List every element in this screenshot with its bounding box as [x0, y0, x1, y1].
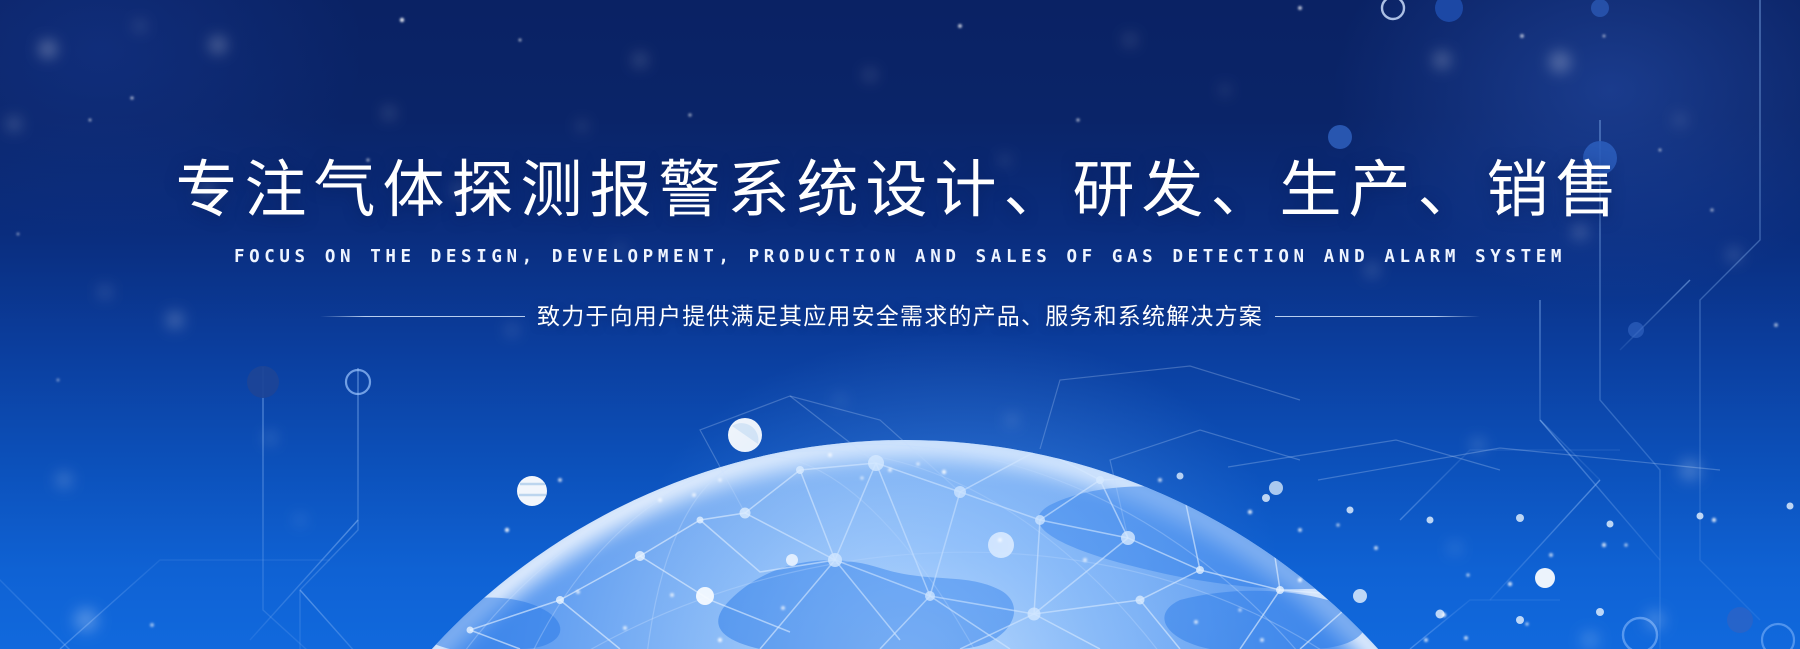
tagline-text: 致力于向用户提供满足其应用安全需求的产品、服务和系统解决方案	[525, 305, 1275, 328]
tagline-row: 致力于向用户提供满足其应用安全需求的产品、服务和系统解决方案	[0, 305, 1800, 328]
particles-soft	[7, 21, 1741, 649]
page-subtitle-english: FOCUS ON THE DESIGN, DEVELOPMENT, PRODUC…	[0, 249, 1800, 267]
page-title: 专注气体探测报警系统设计、研发、生产、销售	[0, 160, 1800, 222]
tagline-rule-right	[1275, 316, 1480, 317]
tagline-rule-left	[320, 316, 525, 317]
hero-banner: 专注气体探测报警系统设计、研发、生产、销售 FOCUS ON THE DESIG…	[0, 0, 1800, 649]
